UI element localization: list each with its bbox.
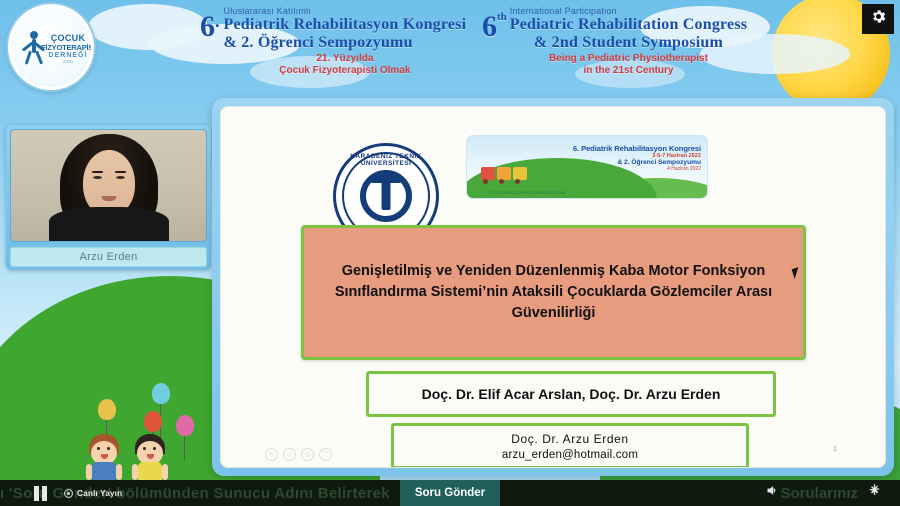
- gear-icon: [870, 8, 887, 30]
- banner-line3: & 2. Öğrenci Sempozyumu: [573, 159, 701, 166]
- announcement-marquee-text: ı 'Soru Gönder' bölümünden Sunucu Adını …: [0, 485, 390, 502]
- slide-contact-name: Doç. Dr. Arzu Erden: [511, 432, 628, 446]
- header-tr-red1: 21. Yüzyılda: [224, 53, 467, 66]
- train-illustration: [481, 162, 535, 184]
- presenter-name-label: Arzu Erden: [10, 247, 207, 267]
- slide-toolbar[interactable]: ✎ ⌂ ⚙ ⌒: [265, 448, 332, 461]
- university-logo-top-text: KARADENİZ TEKNİK ÜNİVERSİTESİ: [336, 153, 436, 167]
- slide-frame: KARADENİZ TEKNİK ÜNİVERSİTESİ 1955 6. Pe…: [212, 98, 894, 476]
- record-icon: [64, 489, 73, 498]
- fullscreen-button[interactable]: [867, 483, 882, 503]
- presenter-video[interactable]: [10, 129, 207, 242]
- assoc-logo-line3: DERNEĞİ: [41, 52, 94, 59]
- webinar-player: ÇOCUK FİZYOTERAPİSTLERİ DERNEĞİ 2004 6. …: [0, 0, 900, 506]
- pause-icon: [34, 486, 39, 501]
- slide-contact-email: arzu_erden@hotmail.com: [502, 449, 638, 461]
- settings-button[interactable]: [862, 4, 894, 34]
- header-en-line1: Pediatric Rehabilitation Congress: [510, 16, 747, 34]
- send-question-button[interactable]: Soru Gönder: [400, 480, 500, 506]
- congress-header-turkish: 6. Uluslararası Katılımlı Pediatrik Reha…: [200, 6, 466, 78]
- live-indicator: Canlı Yayın: [64, 488, 122, 498]
- gear-icon[interactable]: ⚙: [301, 448, 314, 461]
- pen-icon[interactable]: ✎: [265, 448, 278, 461]
- header-tr-line1: Pediatrik Rehabilitasyon Kongresi: [224, 16, 467, 34]
- slide-title-box: Genişletilmiş ve Yeniden Düzenlenmiş Kab…: [301, 225, 806, 360]
- assoc-logo-line2: FİZYOTERAPİSTLERİ: [41, 43, 94, 52]
- congress-header-english: 6th International Participation Pediatri…: [482, 6, 747, 78]
- header-tr-red2: Çocuk Fizyoterapisti Olmak: [224, 65, 467, 78]
- right-marquee-text: Sorularınız: [780, 485, 858, 502]
- header-en-red2: in the 21st Century: [510, 65, 747, 78]
- fit-icon[interactable]: ⌒: [319, 448, 332, 461]
- header-en-red1: Being a Pediatric Physiotherapist: [510, 53, 747, 66]
- volume-button[interactable]: [765, 483, 780, 503]
- header-tr-line2: & 2. Öğrenci Sempozyumu: [224, 34, 467, 52]
- slide-authors: Doç. Dr. Elif Acar Arslan, Doç. Dr. Arzu…: [422, 386, 721, 402]
- banner-line4: 4 Haziran 2022: [573, 166, 701, 172]
- slide-contact-box: Doç. Dr. Arzu Erden arzu_erden@hotmail.c…: [391, 423, 749, 468]
- banner-line1: 6. Pediatrik Rehabilitasyon Kongresi: [573, 144, 701, 153]
- header-en-number: 6: [482, 12, 497, 42]
- slide-title: Genişletilmiş ve Yeniden Düzenlenmiş Kab…: [326, 261, 781, 324]
- header-tr-overline: Uluslararası Katılımlı: [224, 6, 467, 16]
- slide-authors-box: Doç. Dr. Elif Acar Arslan, Doç. Dr. Arzu…: [366, 371, 776, 417]
- speaker-icon: [765, 483, 780, 503]
- fullscreen-icon: [867, 483, 882, 503]
- player-controls-bar: ı 'Soru Gönder' bölümünden Sunucu Adını …: [0, 480, 900, 506]
- live-label: Canlı Yayın: [77, 488, 122, 498]
- header-en-overline: International Participation: [510, 6, 747, 16]
- assoc-logo-line4: 2004: [41, 59, 94, 64]
- slide-number: 1: [833, 446, 837, 453]
- header-en-line2: & 2nd Student Symposium: [510, 34, 747, 52]
- header-tr-number-suffix: .: [215, 12, 220, 30]
- university-logo-mark-icon: [360, 170, 412, 222]
- assoc-logo-line1: ÇOCUK: [41, 33, 94, 43]
- banner-line5: 21. Yüzyılda Çocuk Fizyoterapisti Olmak: [487, 190, 566, 195]
- congress-banner-image: 6. Pediatrik Rehabilitasyon Kongresi 3-5…: [466, 135, 708, 199]
- presenter-panel[interactable]: Arzu Erden: [6, 125, 211, 270]
- pause-icon: [42, 486, 47, 501]
- pause-button[interactable]: [34, 485, 52, 501]
- slide-canvas[interactable]: KARADENİZ TEKNİK ÜNİVERSİTESİ 1955 6. Pe…: [220, 106, 886, 468]
- association-logo: ÇOCUK FİZYOTERAPİSTLERİ DERNEĞİ 2004: [8, 4, 94, 90]
- header-tr-number: 6: [200, 12, 215, 42]
- home-icon[interactable]: ⌂: [283, 448, 296, 461]
- header-en-number-suffix: th: [497, 12, 507, 23]
